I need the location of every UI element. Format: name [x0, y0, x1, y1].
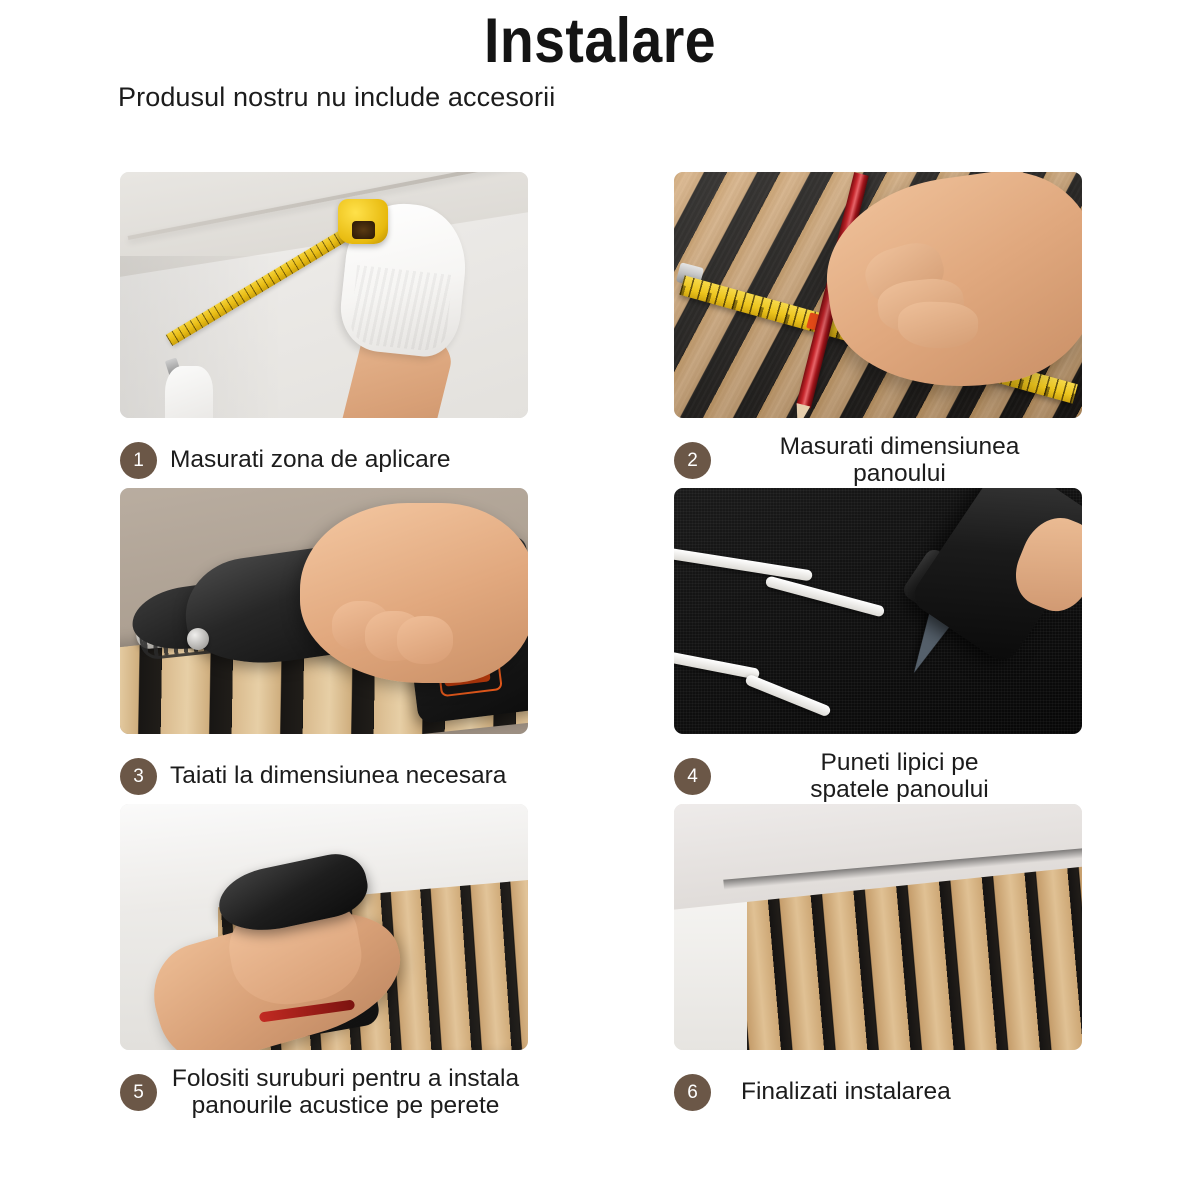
step-caption-1: 1 Masurati zona de aplicare — [120, 432, 528, 488]
step-text-line: panoului — [717, 460, 1082, 487]
step-card-5: 5 Folositi suruburi pentru a instala pan… — [120, 804, 528, 1120]
step-image-2 — [674, 172, 1082, 418]
step-text-line: Folositi suruburi pentru a instala — [163, 1065, 528, 1092]
steps-grid: 1 Masurati zona de aplicare — [120, 172, 1082, 1120]
step-image-6 — [674, 804, 1082, 1050]
step-text-2: Masurati dimensiunea panoului — [711, 433, 1082, 488]
tape-measure-case — [338, 199, 388, 244]
step-text-line: Masurati zona de aplicare — [170, 446, 528, 473]
step-image-3 — [120, 488, 528, 734]
step-card-4: 4 Puneti lipici pe spatele panoului — [674, 488, 1082, 804]
steps-row-3: 5 Folositi suruburi pentru a instala pan… — [120, 804, 1082, 1120]
step-card-2: 2 Masurati dimensiunea panoului — [674, 172, 1082, 488]
step-image-4 — [674, 488, 1082, 734]
step-text-3: Taiati la dimensiunea necesara — [157, 762, 528, 789]
step-image-5 — [120, 804, 528, 1050]
page-subtitle: Produsul nostru nu include accesorii — [118, 82, 555, 113]
step-card-3: 3 Taiati la dimensiunea necesara — [120, 488, 528, 804]
installation-guide-page: Instalare Produsul nostru nu include acc… — [0, 0, 1200, 1200]
step-number-badge-6: 6 — [674, 1074, 711, 1111]
step-text-line: Masurati dimensiunea — [717, 433, 1082, 460]
step-number-badge-5: 5 — [120, 1074, 157, 1111]
step-text-4: Puneti lipici pe spatele panoului — [711, 749, 1082, 804]
steps-row-2: 3 Taiati la dimensiunea necesara — [120, 488, 1082, 804]
step-caption-4: 4 Puneti lipici pe spatele panoului — [674, 748, 1082, 804]
step-text-6: Finalizati instalarea — [711, 1078, 1082, 1105]
step-caption-5: 5 Folositi suruburi pentru a instala pan… — [120, 1064, 528, 1120]
header: Instalare Produsul nostru nu include acc… — [0, 0, 1200, 130]
page-title: Instalare — [72, 8, 1128, 74]
step-text-line: Taiati la dimensiunea necesara — [170, 762, 528, 789]
step-number-badge-4: 4 — [674, 758, 711, 795]
step-number-badge-1: 1 — [120, 442, 157, 479]
white-cloth — [165, 366, 213, 418]
step-card-6: 6 Finalizati instalarea — [674, 804, 1082, 1120]
step-caption-6: 6 Finalizati instalarea — [674, 1064, 1082, 1120]
step-number-badge-3: 3 — [120, 758, 157, 795]
step-text-line: Finalizati instalarea — [741, 1078, 1082, 1105]
steps-row-1: 1 Masurati zona de aplicare — [120, 172, 1082, 488]
step-text-1: Masurati zona de aplicare — [157, 446, 528, 473]
step-text-line: spatele panoului — [717, 776, 1082, 803]
step-number-badge-2: 2 — [674, 442, 711, 479]
step-text-line: panourile acustice pe perete — [163, 1092, 528, 1119]
step-text-5: Folositi suruburi pentru a instala panou… — [157, 1065, 528, 1120]
step-caption-2: 2 Masurati dimensiunea panoului — [674, 432, 1082, 488]
step-text-line: Puneti lipici pe — [717, 749, 1082, 776]
step-card-1: 1 Masurati zona de aplicare — [120, 172, 528, 488]
step-caption-3: 3 Taiati la dimensiunea necesara — [120, 748, 528, 804]
step-image-1 — [120, 172, 528, 418]
